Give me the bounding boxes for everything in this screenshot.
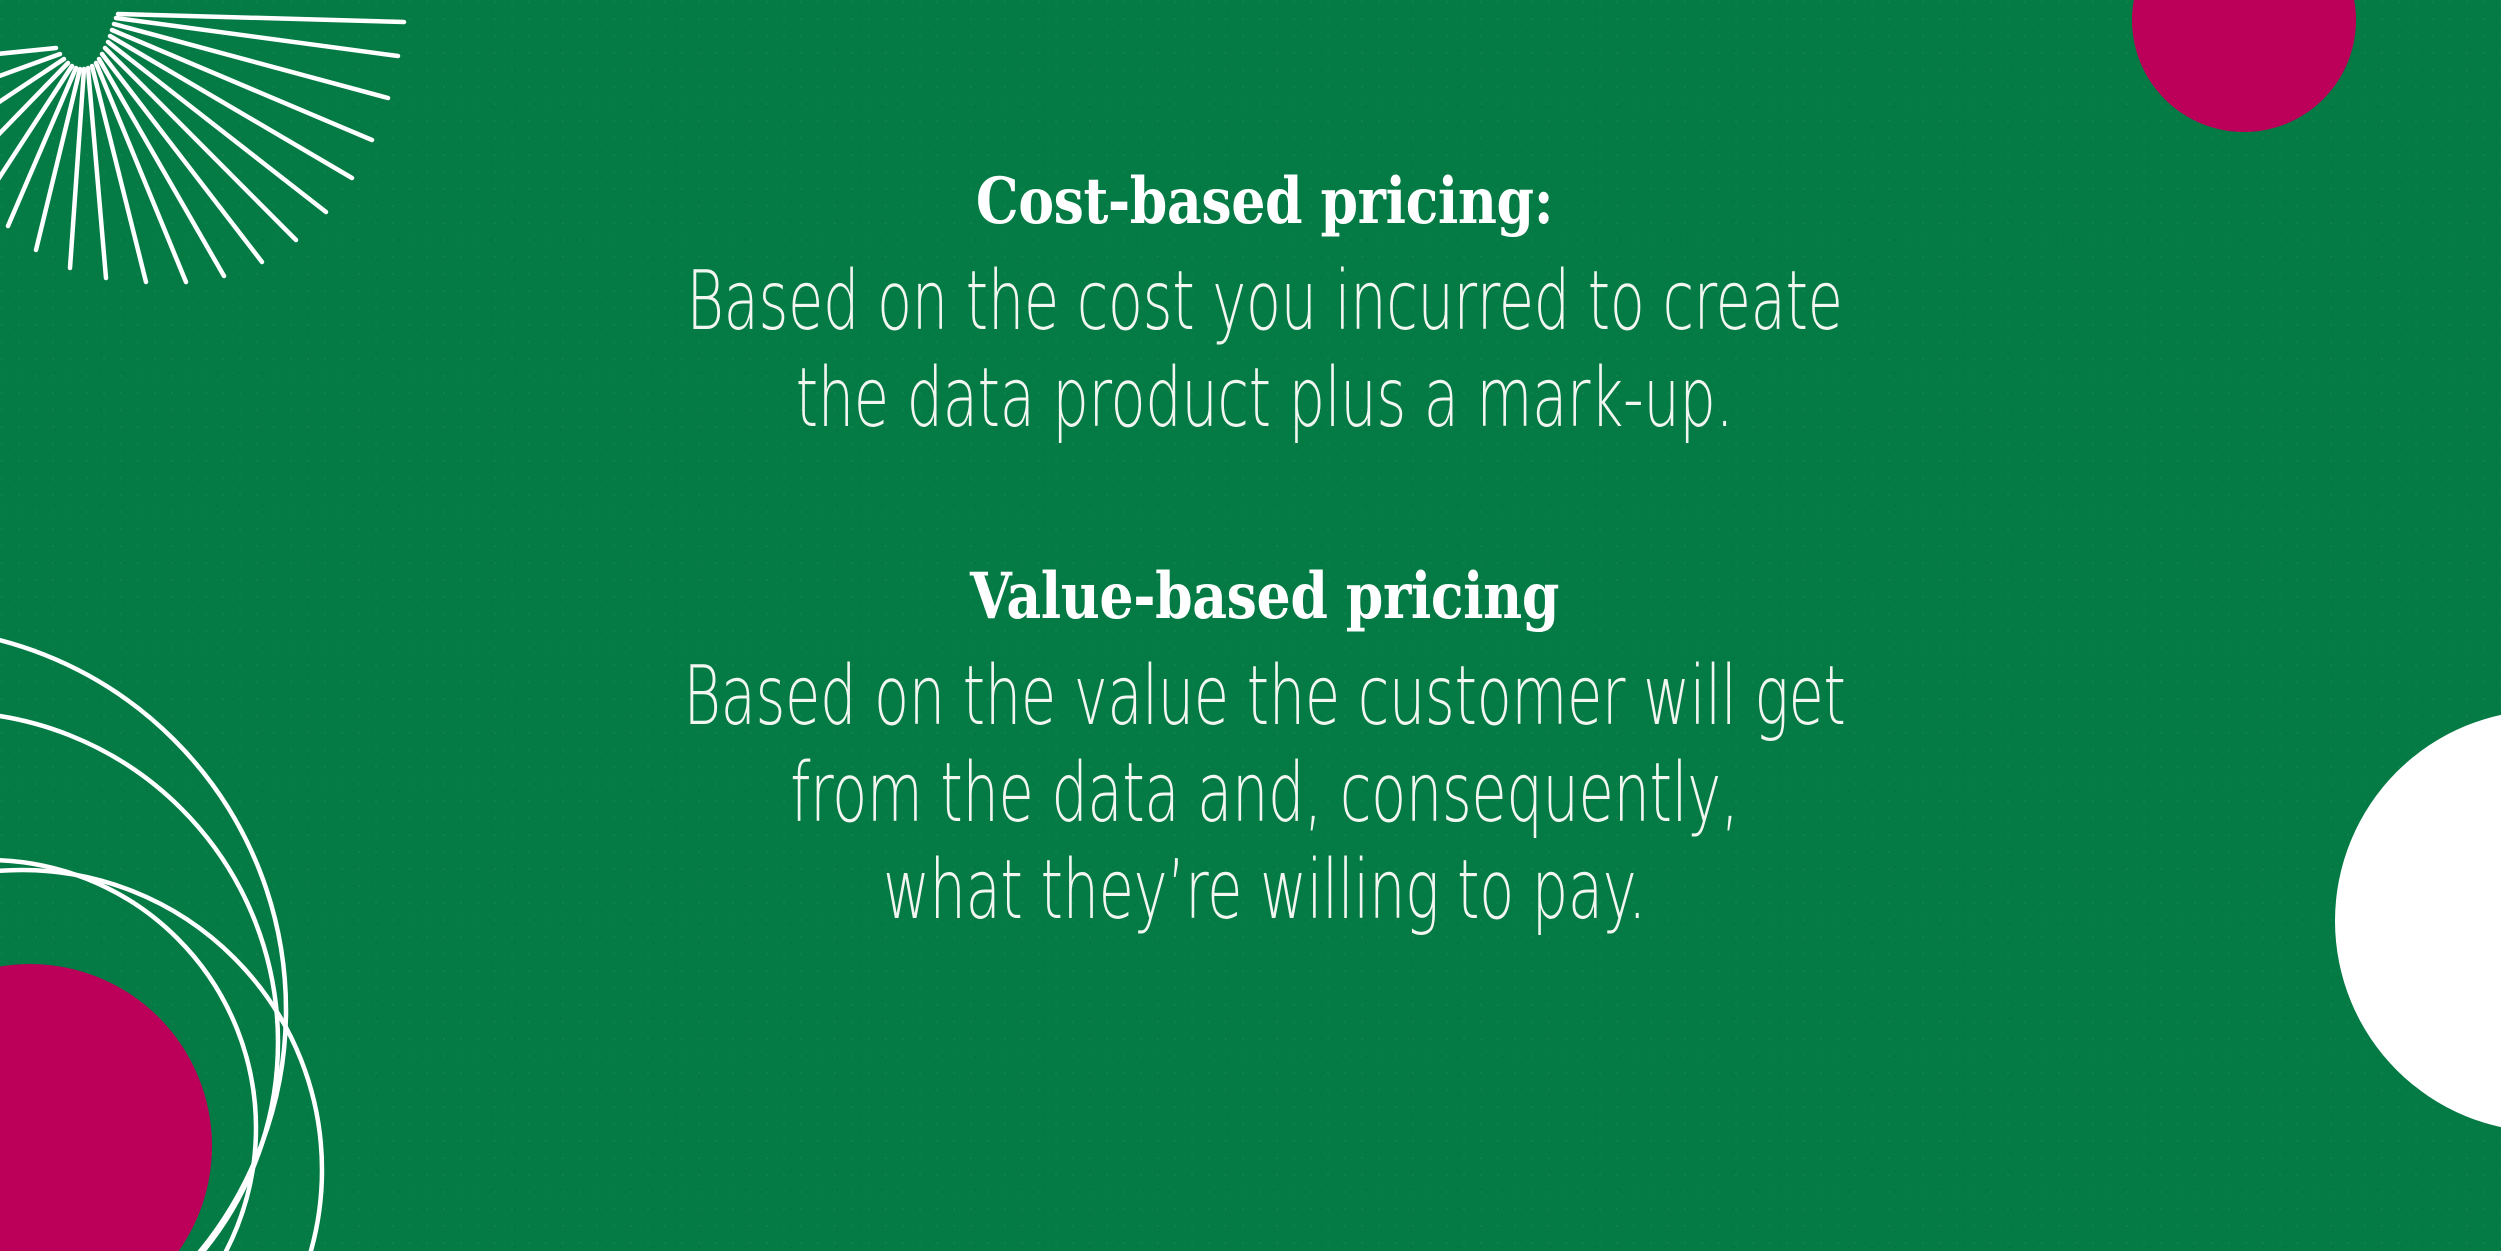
section-heading: Value-based pricing (214, 563, 2315, 631)
section-heading: Cost-based pricing: (214, 168, 2315, 236)
slide-canvas: Cost-based pricing: Based on the cost yo… (0, 0, 2501, 1251)
section-body-line: the data product plus a mark-up. (389, 351, 2140, 448)
section-body-line: Based on the value the customer will get (389, 649, 2140, 746)
slide-content: Cost-based pricing: Based on the cost yo… (0, 0, 2501, 1251)
section-value-based: Value-based pricing Based on the value t… (14, 563, 2501, 939)
section-body-line: Based on the cost you incurred to create (389, 254, 2140, 351)
section-cost-based: Cost-based pricing: Based on the cost yo… (14, 168, 2501, 447)
section-body-line: what they’re willing to pay. (389, 843, 2140, 940)
section-body-line: from the data and, consequently, (389, 746, 2140, 843)
